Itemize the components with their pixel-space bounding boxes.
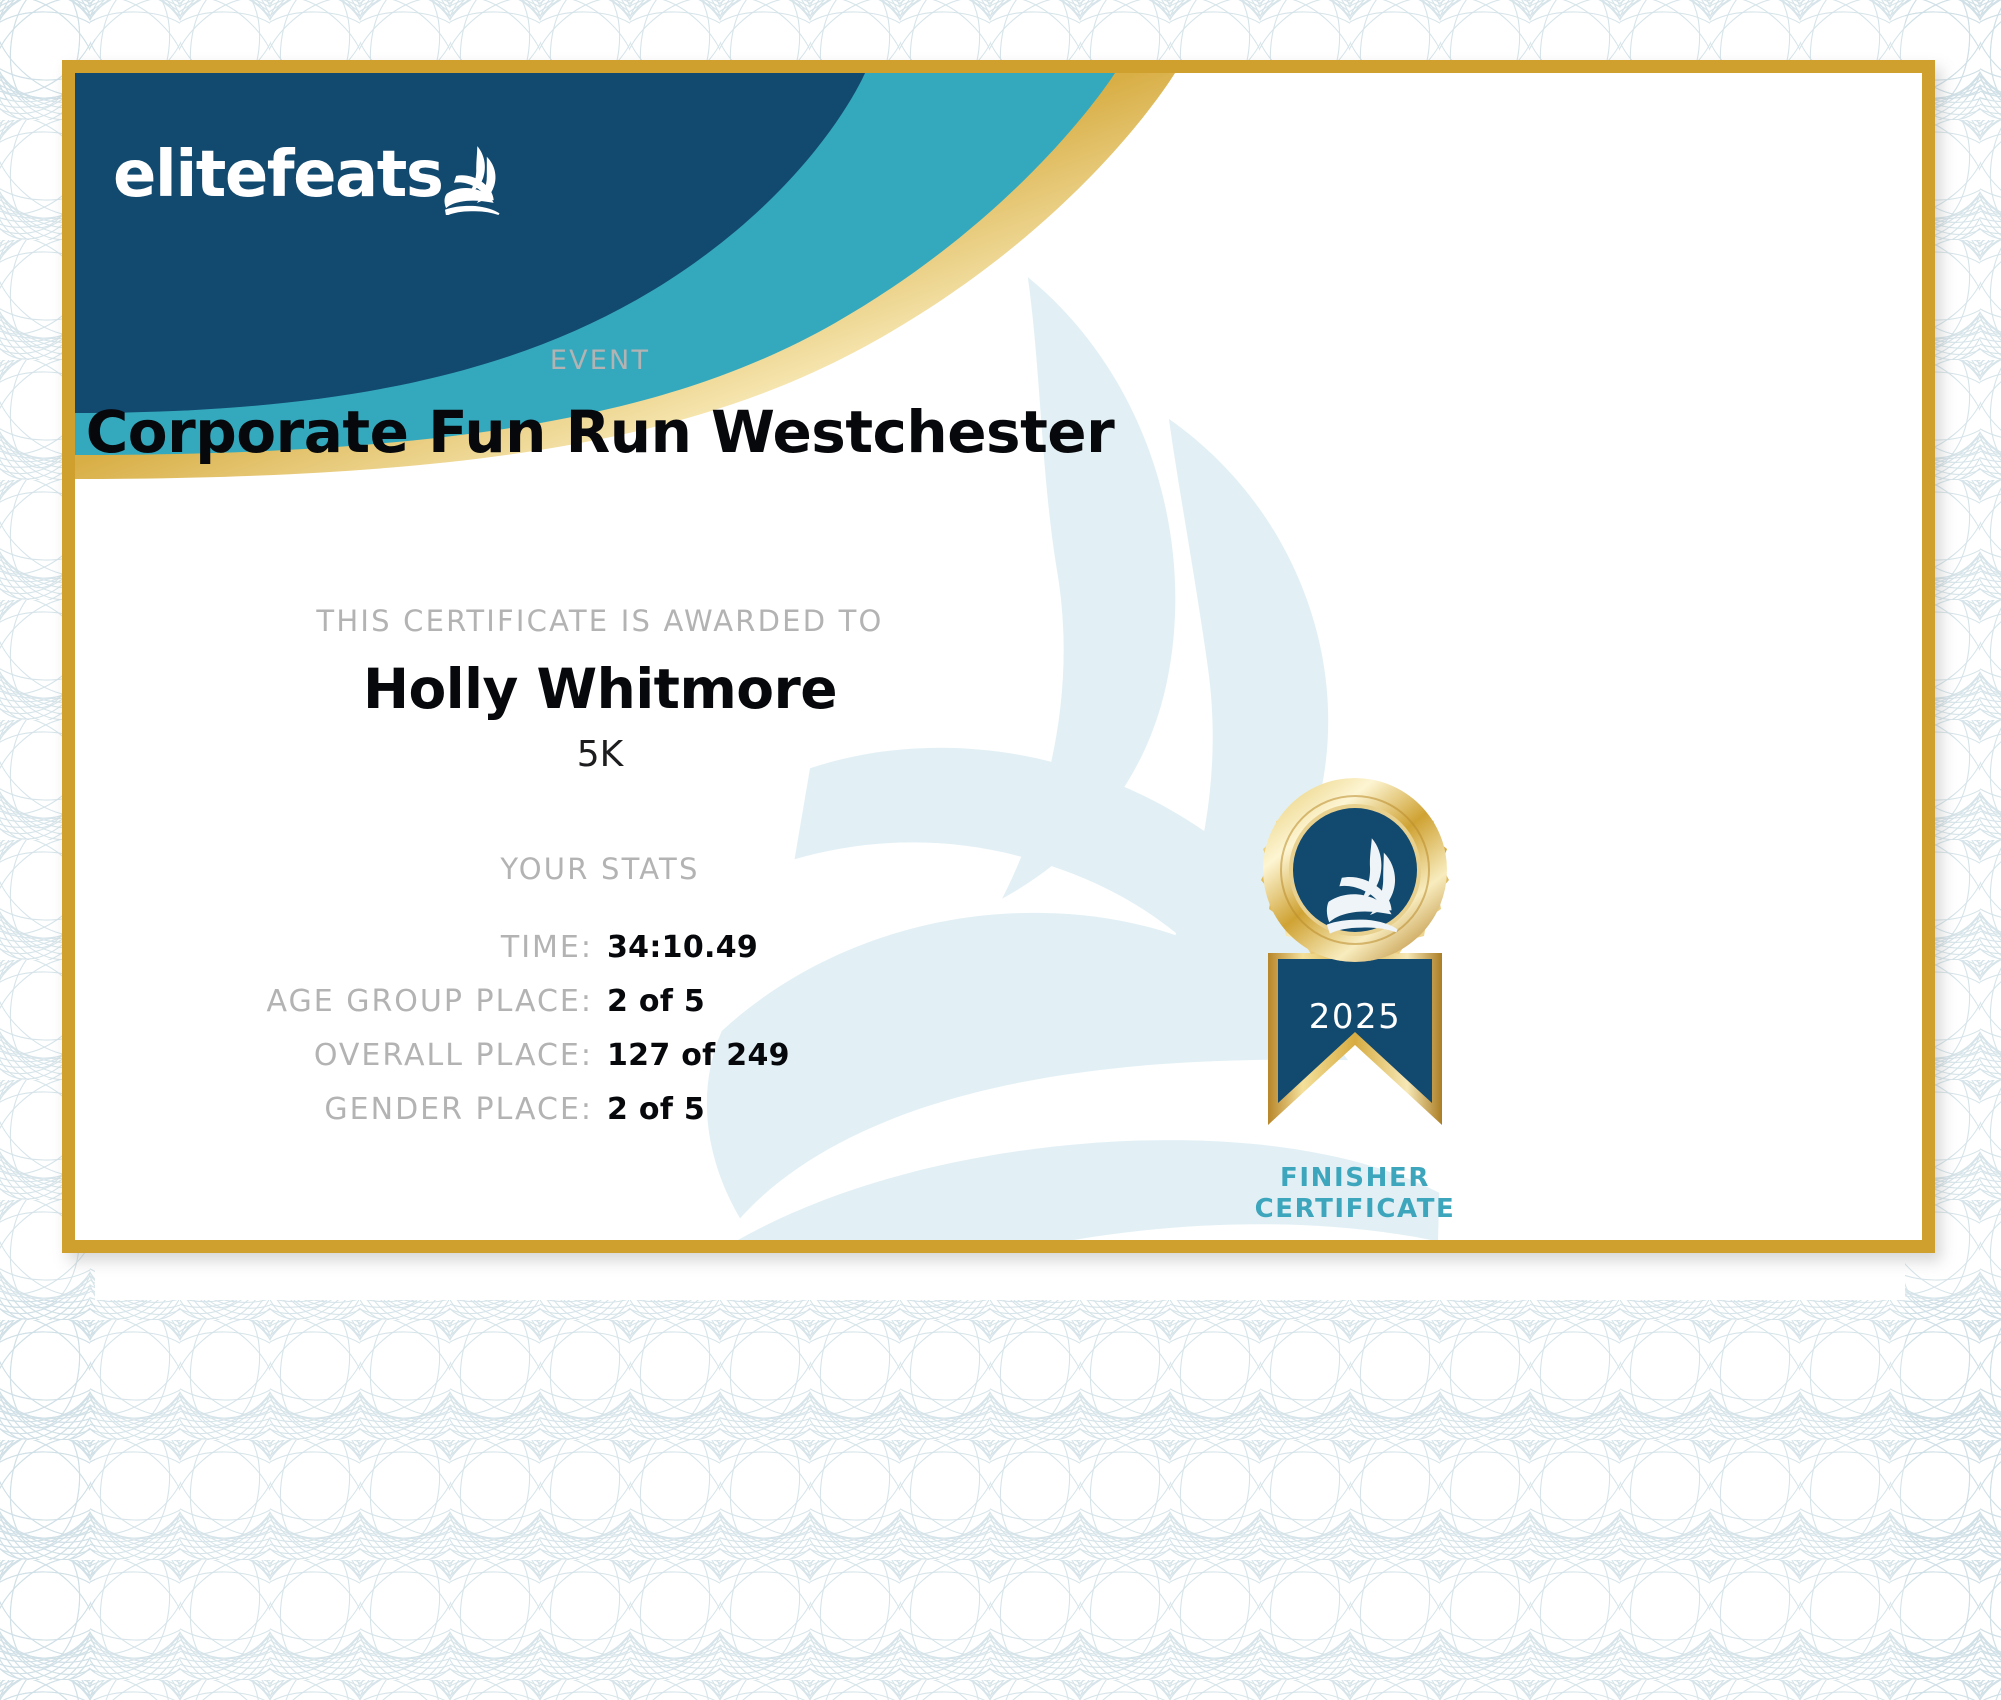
stat-row-age-group-place: AGE GROUP PLACE: 2 of 5	[75, 987, 1125, 1017]
badge-caption-line-2: CERTIFICATE	[1170, 1194, 1540, 1225]
recipient-name: Holly Whitmore	[75, 657, 1125, 721]
stats-table: TIME: 34:10.49 AGE GROUP PLACE: 2 of 5 O…	[75, 933, 1125, 1149]
badge-caption: FINISHER CERTIFICATE	[1170, 1163, 1540, 1224]
stat-value-gender-place: 2 of 5	[593, 1095, 1077, 1125]
ribbon-shape: 2025	[1268, 953, 1442, 1125]
badge-year: 2025	[1309, 997, 1402, 1037]
event-title: Corporate Fun Run Westchester	[75, 398, 1125, 466]
awarded-to-label: THIS CERTIFICATE IS AWARDED TO	[75, 604, 1125, 638]
stat-value-time: 34:10.49	[593, 933, 1077, 963]
your-stats-label: YOUR STATS	[75, 852, 1125, 886]
stat-row-time: TIME: 34:10.49	[75, 933, 1125, 963]
stat-row-overall-place: OVERALL PLACE: 127 of 249	[75, 1041, 1125, 1071]
stat-value-overall-place: 127 of 249	[593, 1041, 1077, 1071]
badge-caption-line-1: FINISHER	[1170, 1163, 1540, 1194]
certificate-content: EVENT Corporate Fun Run Westchester THIS…	[75, 73, 1922, 1240]
race-distance: 5K	[75, 734, 1125, 775]
winged-foot-icon	[440, 143, 504, 215]
stat-label-gender-place: GENDER PLACE:	[123, 1095, 593, 1125]
stat-label-overall-place: OVERALL PLACE:	[123, 1041, 593, 1071]
stat-value-age-group-place: 2 of 5	[593, 987, 1077, 1017]
certificate-page: elitefeats EVENT Corporate Fun Run Westc…	[0, 0, 2001, 1700]
medal-disc	[1261, 778, 1449, 962]
certificate-frame: elitefeats EVENT Corporate Fun Run Westc…	[62, 60, 1935, 1253]
stat-label-time: TIME:	[123, 933, 593, 963]
certificate-body: elitefeats EVENT Corporate Fun Run Westc…	[75, 73, 1922, 1240]
finisher-medal-badge: 2025	[1200, 773, 1510, 1193]
stat-label-age-group-place: AGE GROUP PLACE:	[123, 987, 593, 1017]
stat-row-gender-place: GENDER PLACE: 2 of 5	[75, 1095, 1125, 1125]
event-label: EVENT	[75, 345, 1125, 376]
logo-wordmark: elitefeats	[113, 143, 442, 207]
elitefeats-logo: elitefeats	[113, 135, 504, 215]
